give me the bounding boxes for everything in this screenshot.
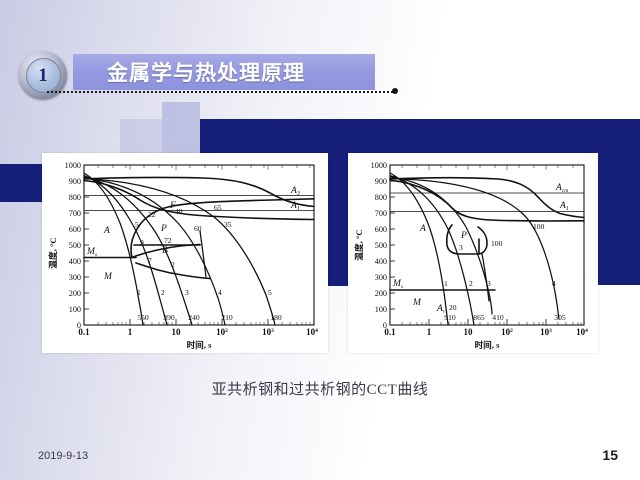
y-axis-label: 温度, °C	[353, 229, 364, 260]
frac-60: 60	[194, 224, 202, 233]
svg-text:200: 200	[69, 289, 81, 298]
curve-id-3: 3	[487, 279, 491, 288]
chart-left-svg: .ax{fill:none;stroke:#111;stroke-width:1…	[42, 153, 328, 353]
rate-2: 390	[163, 313, 175, 322]
svg-text:600: 600	[69, 225, 81, 234]
svg-text:500: 500	[69, 241, 81, 250]
frac-40: 40	[175, 207, 183, 216]
curve-id-4: 4	[552, 279, 556, 288]
curve-id-3: 3	[185, 288, 189, 297]
chart-cct-hypereutectoid: .ax2{fill:none;stroke:#111;stroke-width:…	[348, 153, 598, 353]
slide-canvas: 1 金属学与热处理原理 .ax{fill:none;stroke:#111;st…	[0, 0, 640, 480]
svg-text:1000: 1000	[371, 161, 387, 170]
svg-text:1: 1	[128, 327, 133, 337]
title-end-dot	[392, 88, 398, 94]
badge-inner-circle: 1	[26, 58, 61, 93]
svg-text:100: 100	[69, 305, 81, 314]
svg-text:100: 100	[375, 305, 387, 314]
svg-text:102: 102	[216, 327, 228, 337]
svg-text:102: 102	[501, 327, 513, 337]
curve-id-2: 2	[161, 288, 165, 297]
page-title: 金属学与热处理原理	[107, 57, 305, 87]
chart-right-svg: .ax2{fill:none;stroke:#111;stroke-width:…	[348, 153, 598, 353]
frac-65: 65	[214, 203, 222, 212]
svg-text:200: 200	[375, 289, 387, 298]
svg-text:500: 500	[375, 241, 387, 250]
svg-text:0.1: 0.1	[78, 327, 90, 337]
y-axis-ticks: 0 100 200 300 400 500 600 700 800 900 10…	[371, 161, 395, 330]
y-axis-ticks: 0 100 200 300 400 500 600 700 800 900 10…	[65, 161, 89, 330]
rate-2: 865	[473, 313, 485, 322]
label-A1: A1	[559, 201, 569, 212]
region-A: A	[419, 224, 426, 234]
svg-text:900: 900	[69, 177, 81, 186]
region-B: B	[162, 246, 168, 256]
svg-text:0.1: 0.1	[384, 327, 396, 337]
curve-id-1: 1	[444, 279, 448, 288]
figure-caption: 亚共析钢和过共析钢的CCT曲线	[0, 378, 640, 399]
title-dotted-underline	[47, 91, 395, 93]
frac-3: 3	[459, 243, 463, 252]
svg-text:700: 700	[375, 209, 387, 218]
curve-id-5: 5	[268, 288, 272, 297]
svg-text:1: 1	[427, 327, 432, 337]
footer-page-number: 15	[602, 447, 618, 463]
svg-text:103: 103	[262, 327, 274, 337]
svg-text:800: 800	[69, 193, 81, 202]
frac-100-b: 100	[533, 222, 545, 231]
frac-22: 22	[148, 210, 156, 219]
rate-5: 180	[270, 313, 282, 322]
region-P: P	[160, 224, 167, 234]
region-A: A	[103, 226, 110, 236]
svg-text:400: 400	[69, 257, 81, 266]
decor-navy-left-tab	[0, 164, 46, 202]
svg-text:10: 10	[464, 327, 474, 337]
curve-id-1: 1	[137, 288, 141, 297]
svg-text:300: 300	[375, 273, 387, 282]
frac-7: 7	[148, 256, 152, 265]
slide-title-box: 金属学与热处理原理	[73, 54, 375, 90]
label-Acm: Acm	[555, 183, 568, 194]
label-Ms: Ms	[86, 247, 97, 258]
svg-text:800: 800	[375, 193, 387, 202]
rate-1: 550	[137, 313, 149, 322]
frac-2: 2	[171, 260, 175, 269]
svg-text:900: 900	[375, 177, 387, 186]
svg-text:10: 10	[172, 327, 182, 337]
chart-cct-hypoeutectoid: .ax{fill:none;stroke:#111;stroke-width:1…	[42, 153, 328, 353]
curve-id-4: 4	[218, 288, 222, 297]
label-Ms: Ms	[392, 279, 403, 290]
region-M: M	[103, 272, 113, 282]
y-axis-label: 温度, °C	[47, 237, 58, 268]
svg-text:300: 300	[69, 273, 81, 282]
badge-number-text: 1	[38, 66, 48, 85]
svg-text:104: 104	[306, 327, 318, 337]
rate-4: 210	[221, 313, 233, 322]
frac-35: 35	[224, 220, 232, 229]
footer-date: 2019-9-13	[38, 450, 88, 462]
frac-100-a: 100	[491, 239, 503, 248]
val-20: 20	[449, 303, 457, 312]
svg-text:104: 104	[576, 327, 588, 337]
region-M: M	[412, 298, 422, 308]
svg-text:600: 600	[375, 225, 387, 234]
rate-4: 305	[554, 313, 566, 322]
x-axis-label: 时间, s	[475, 339, 500, 350]
svg-text:1000: 1000	[65, 161, 81, 170]
svg-text:700: 700	[69, 209, 81, 218]
frac-72: 72	[164, 236, 172, 245]
cooling-curve-3	[390, 177, 492, 314]
svg-text:400: 400	[375, 257, 387, 266]
region-P: P	[460, 231, 467, 241]
curve-id-2: 2	[469, 279, 473, 288]
rate-3: 410	[492, 313, 504, 322]
rate-1: 910	[444, 313, 456, 322]
frac-9: 9	[140, 238, 144, 247]
rate-3: 240	[188, 313, 200, 322]
frac-5: 5	[135, 220, 139, 229]
x-axis-label: 时间, s	[187, 339, 212, 350]
label-A3: A3	[290, 186, 300, 197]
svg-text:103: 103	[540, 327, 552, 337]
